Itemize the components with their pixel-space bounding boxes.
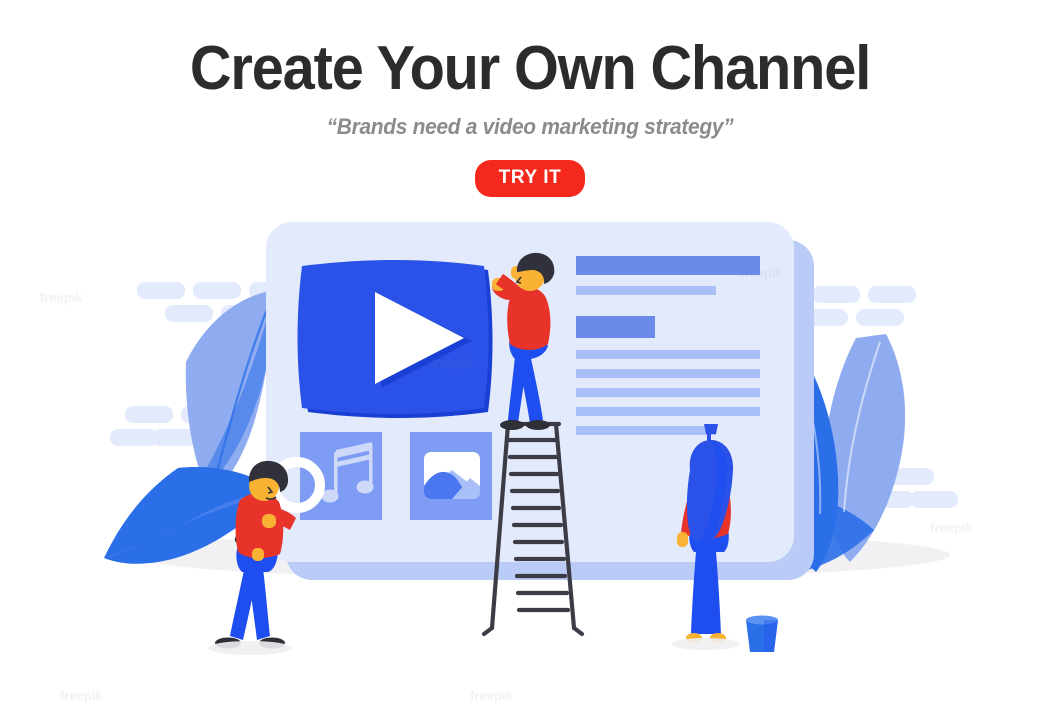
shoe-right bbox=[526, 420, 550, 430]
page-subtitle: “Brands need a video marketing strategy” bbox=[27, 100, 1034, 140]
subline-bar bbox=[576, 286, 716, 295]
cta-wrapper: TRY IT bbox=[0, 140, 1060, 197]
hand-down bbox=[677, 532, 688, 547]
illustration-page: Create Your Own Channel “Brands need a v… bbox=[0, 0, 1060, 706]
shadow-woman bbox=[672, 638, 740, 650]
text-line-2 bbox=[576, 369, 760, 378]
headline-bar bbox=[576, 256, 760, 275]
page-title: Create Your Own Channel bbox=[37, 0, 1023, 100]
video-player-preview[interactable] bbox=[298, 260, 493, 418]
try-it-button[interactable]: TRY IT bbox=[475, 160, 586, 197]
hand-holding bbox=[262, 514, 276, 528]
text-line-1 bbox=[576, 350, 760, 359]
hero-section: Create Your Own Channel “Brands need a v… bbox=[0, 0, 1060, 197]
shoe-left bbox=[500, 420, 524, 430]
tag-bar bbox=[576, 316, 655, 338]
paint-roller bbox=[704, 424, 718, 434]
image-thumbnail[interactable] bbox=[410, 432, 492, 520]
paint-bucket bbox=[746, 616, 778, 653]
text-line-5 bbox=[576, 426, 716, 435]
shadow-left-man bbox=[208, 641, 292, 655]
text-line-3 bbox=[576, 388, 760, 397]
hand-lower bbox=[252, 548, 264, 561]
photo-icon bbox=[424, 452, 480, 499]
text-line-4 bbox=[576, 407, 760, 416]
shirt bbox=[507, 287, 550, 350]
